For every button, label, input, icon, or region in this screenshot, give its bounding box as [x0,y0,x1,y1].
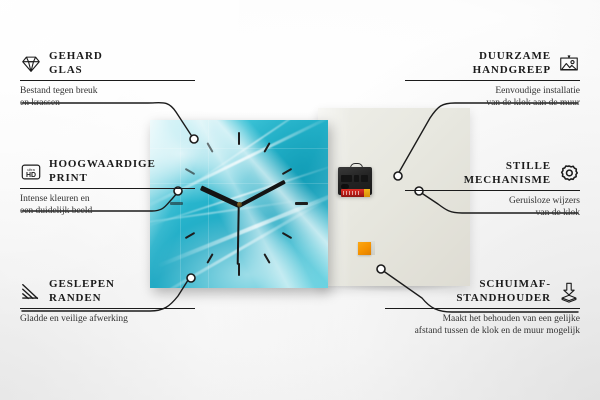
battery-terminal [364,189,370,197]
feature-title-line2: GLAS [49,64,103,78]
feature-title-line1: SCHUIMAF- [456,278,551,292]
mechanism-body [338,167,372,195]
battery [341,189,370,197]
foam-standoff [358,240,375,256]
feature-rule [385,308,580,309]
feature-title-line2: RANDEN [49,292,115,306]
clock-center-cap [237,202,242,207]
feature-desc-line2: van de klok [405,207,580,219]
feature-desc-line2: van de klok aan de muur [405,97,580,109]
feature-hoogwaardige-print: ultra HD HOOGWAARDIGE PRINT Intense kleu… [20,158,195,217]
feature-desc-line1: Eenvoudige installatie [405,85,580,97]
feature-desc-line1: Maakt het behouden van een gelijke [385,313,580,325]
feature-desc: Maakt het behouden van een gelijke afsta… [385,313,580,337]
feature-title-line2: PRINT [49,172,156,186]
diamond-icon [20,53,42,75]
feature-gehard-glas: GEHARD GLAS Bestand tegen breuk en krass… [20,50,195,109]
feature-title-line2: STANDHOUDER [456,292,551,306]
product-infographic: GEHARD GLAS Bestand tegen breuk en krass… [0,0,600,400]
mechanism-detail [354,175,359,182]
clock-tick [295,202,308,205]
battery-label [343,191,361,195]
press-down-pad-icon [558,281,580,303]
feature-rule [20,188,195,189]
clock-tick [238,263,240,276]
feature-desc-line1: Gladde en veilige afwerking [20,313,195,325]
standoff-pad [358,242,371,255]
feature-desc: Bestand tegen breuk en krassen [20,85,195,109]
feature-head: GESLEPEN RANDEN [20,278,195,305]
feature-title-line2: HANDGREEP [473,64,551,78]
feature-desc-line2: een duidelijk beeld [20,205,195,217]
feature-title: DUURZAME HANDGREEP [473,50,551,77]
feature-title-line1: HOOGWAARDIGE [49,158,156,172]
feature-rule [20,308,195,309]
gear-icon [558,163,580,185]
feature-title-line2: MECHANISME [464,174,551,188]
feature-desc: Geruisloze wijzers van de klok [405,195,580,219]
feature-head: DUURZAME HANDGREEP [405,50,580,77]
clock-tick [238,132,240,145]
feature-desc: Eenvoudige installatie van de klok aan d… [405,85,580,109]
feature-head: SCHUIMAF- STANDHOUDER [385,278,580,305]
feature-desc-line2: en krassen [20,97,195,109]
clock-mechanism [338,163,372,195]
ultra-hd-icon: ultra HD [20,161,42,183]
feature-rule [405,80,580,81]
feature-geslepen-randen: GESLEPEN RANDEN Gladde en veilige afwerk… [20,278,195,325]
feature-desc-line2: afstand tussen de klok en de muur mogeli… [385,325,580,337]
feature-head: ultra HD HOOGWAARDIGE PRINT [20,158,195,185]
feature-desc: Intense kleuren en een duidelijk beeld [20,193,195,217]
feature-rule [20,80,195,81]
feature-title: STILLE MECHANISME [464,160,551,187]
feature-title: GEHARD GLAS [49,50,103,77]
feature-title-line1: DUURZAME [473,50,551,64]
bevelled-edge-icon [20,281,42,303]
feature-head: GEHARD GLAS [20,50,195,77]
feature-desc-line1: Intense kleuren en [20,193,195,205]
feature-rule [405,190,580,191]
feature-title: SCHUIMAF- STANDHOUDER [456,278,551,305]
svg-text:HD: HD [26,172,36,179]
feature-duurzame-handgreep: DUURZAME HANDGREEP Eenvoudige installati… [405,50,580,109]
mechanism-detail [361,175,368,182]
mechanism-detail [341,175,352,182]
feature-title-line1: STILLE [464,160,551,174]
feature-desc-line1: Bestand tegen breuk [20,85,195,97]
feature-stille-mechanisme: STILLE MECHANISME Geruisloze wijzers van… [405,160,580,219]
feature-title: GESLEPEN RANDEN [49,278,115,305]
feature-desc: Gladde en veilige afwerking [20,313,195,325]
picture-frame-icon [558,53,580,75]
feature-title-line1: GESLEPEN [49,278,115,292]
feature-title: HOOGWAARDIGE PRINT [49,158,156,185]
feature-desc-line1: Geruisloze wijzers [405,195,580,207]
feature-head: STILLE MECHANISME [405,160,580,187]
feature-title-line1: GEHARD [49,50,103,64]
feature-schuimafstandhouder: SCHUIMAF- STANDHOUDER Maakt het behouden… [385,278,580,337]
